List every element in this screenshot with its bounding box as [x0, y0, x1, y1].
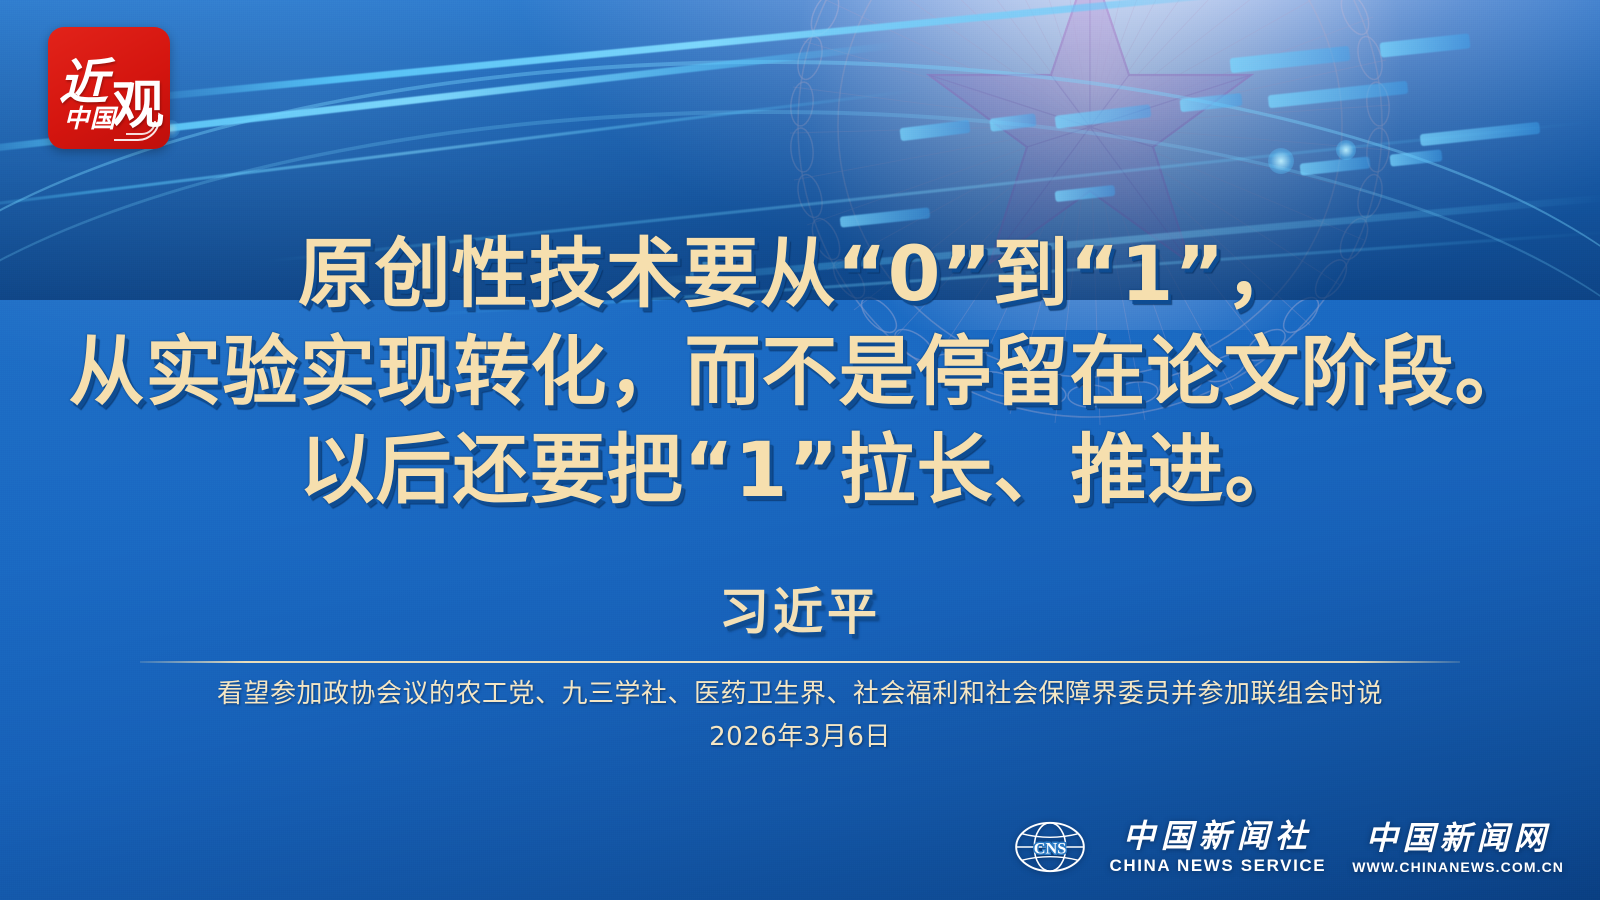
svg-text:CNS: CNS — [1034, 839, 1067, 858]
site-url: WWW.CHINANEWS.COM.CN — [1352, 859, 1564, 875]
quote-line-3: 以后还要把“1”拉长、推进。 — [0, 421, 1600, 519]
speaker-name: 习近平 — [0, 572, 1600, 644]
caption-block: 看望参加政协会议的农工党、九三学社、医药卫生界、社会福利和社会保障界委员并参加联… — [0, 674, 1600, 757]
agency-name-en: CHINA NEWS SERVICE — [1109, 856, 1326, 876]
chinanews-site-wordmark: 中国新闻网 WWW.CHINANEWS.COM.CN — [1352, 820, 1564, 875]
jinguan-zhongguo-logo[interactable]: 近 观 中国 — [48, 27, 170, 149]
poster-canvas: 近 观 中国 原创性技术要从“0”到“1”， 从实验实现转化，而不是停留在论文阶… — [0, 0, 1600, 900]
caption-date: 2026年3月6日 — [0, 717, 1600, 757]
quote-line-1: 原创性技术要从“0”到“1”， — [0, 225, 1600, 323]
quote-line-2: 从实验实现转化，而不是停留在论文阶段。 — [0, 323, 1600, 421]
divider-rule — [140, 661, 1460, 663]
site-name-cn: 中国新闻网 — [1366, 820, 1551, 856]
caption-occasion: 看望参加政协会议的农工党、九三学社、医药卫生界、社会福利和社会保障界委员并参加联… — [217, 679, 1383, 709]
quote-block: 原创性技术要从“0”到“1”， 从实验实现转化，而不是停留在论文阶段。 以后还要… — [0, 225, 1600, 519]
footer-logos: CNS 中国新闻社 CHINA NEWS SERVICE 中国新闻网 WWW.C… — [1013, 818, 1564, 876]
china-news-service-wordmark: 中国新闻社 CHINA NEWS SERVICE — [1109, 818, 1326, 876]
logo-char-zhongguo: 中国 — [64, 99, 116, 135]
agency-name-cn: 中国新闻社 — [1123, 818, 1313, 854]
cns-globe-icon: CNS — [1013, 818, 1087, 876]
